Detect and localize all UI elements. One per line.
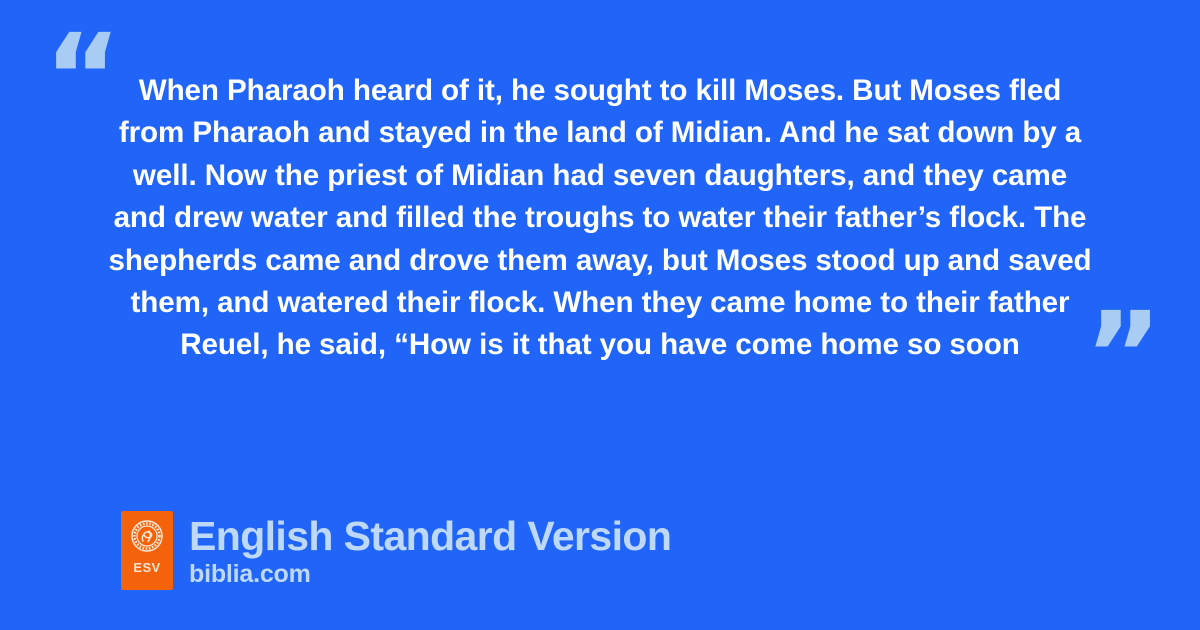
- bible-version-name: English Standard Version: [189, 513, 671, 559]
- closing-quote-icon: ”: [1084, 296, 1160, 414]
- quote-text: When Pharaoh heard of it, he sought to k…: [108, 70, 1092, 367]
- esv-seal-icon: [131, 520, 163, 552]
- source-site-name: biblia.com: [189, 559, 671, 589]
- attribution-text: English Standard Version biblia.com: [189, 511, 671, 589]
- attribution: ESV English Standard Version biblia.com: [121, 511, 671, 590]
- esv-logo-label: ESV: [133, 561, 160, 574]
- bible-quote-card: “ When Pharaoh heard of it, he sought to…: [0, 0, 1200, 630]
- esv-logo: ESV: [121, 511, 173, 590]
